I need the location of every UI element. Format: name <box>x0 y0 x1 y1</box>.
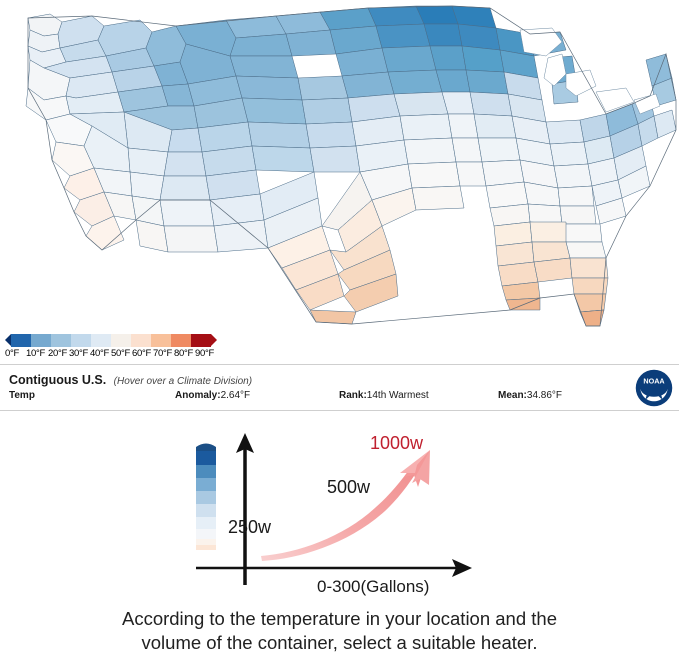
colorbar-tick: 60°F <box>132 348 151 359</box>
colorbar-segment <box>131 334 151 347</box>
stat-mean-label: Mean: <box>498 390 527 401</box>
colorbar-tick: 0°F <box>5 348 19 359</box>
caption-line-1: According to the temperature in your loc… <box>0 607 679 631</box>
colorbar-tick: 20°F <box>48 348 67 359</box>
chart-axes <box>196 433 472 585</box>
us-climate-division-map[interactable] <box>0 0 679 330</box>
heater-selection-diagram: 250w 500w 1000w 0-300(Gallons) <box>0 425 679 600</box>
colorbar-high-cap-icon <box>211 334 217 346</box>
annotation-1000w: 1000w <box>370 433 424 453</box>
colorbar-tick: 40°F <box>90 348 109 359</box>
colorbar-tick: 30°F <box>69 348 88 359</box>
map-info-bar: Contiguous U.S. (Hover over a Climate Di… <box>0 364 679 411</box>
colorbar-strip <box>11 334 211 347</box>
noaa-logo-text: NOAA <box>643 376 665 385</box>
info-title-row: Contiguous U.S. (Hover over a Climate Di… <box>9 371 252 389</box>
stat-mean-value: 34.86°F <box>527 390 562 401</box>
stat-anomaly: Anomaly:2.64°F <box>175 390 250 401</box>
colorbar-tick: 70°F <box>153 348 172 359</box>
stat-temp: Temp <box>9 390 35 401</box>
x-axis-label: 0-300(Gallons) <box>317 577 429 596</box>
colorbar-segment <box>191 334 211 347</box>
stat-rank-value: 14th Warmest <box>367 390 429 401</box>
heater-wattage-chart: 250w 500w 1000w 0-300(Gallons) <box>0 425 679 600</box>
region-title: Contiguous U.S. <box>9 373 106 387</box>
hover-hint: (Hover over a Climate Division) <box>114 376 252 387</box>
stat-rank-label: Rank: <box>339 390 367 401</box>
colorbar-tick: 90°F <box>195 348 214 359</box>
map-panel[interactable] <box>0 0 679 330</box>
stat-anomaly-value: 2.64°F <box>221 390 251 401</box>
colorbar-tick-labels: 0°F 10°F 20°F 30°F 40°F 50°F 60°F 70°F 8… <box>5 348 217 361</box>
colorbar-segment <box>31 334 51 347</box>
colorbar-segment <box>91 334 111 347</box>
annotation-250w: 250w <box>228 517 272 537</box>
colorbar-tick: 80°F <box>174 348 193 359</box>
stat-temp-label: Temp <box>9 390 35 401</box>
caption-line-2: volume of the container, select a suitab… <box>0 631 679 655</box>
growth-arrow-icon <box>261 450 430 561</box>
stat-mean: Mean:34.86°F <box>498 390 562 401</box>
info-stats-row: Temp Anomaly:2.64°F Rank:14th Warmest Me… <box>9 390 629 404</box>
colorbar-segment <box>171 334 191 347</box>
colorbar-segment <box>11 334 31 347</box>
colorbar-tick: 10°F <box>26 348 45 359</box>
colorbar-segment <box>51 334 71 347</box>
stat-anomaly-label: Anomaly: <box>175 390 221 401</box>
colorbar-segment <box>111 334 131 347</box>
annotation-500w: 500w <box>327 477 371 497</box>
colorbar-segment <box>71 334 91 347</box>
temperature-colorbar: 0°F 10°F 20°F 30°F 40°F 50°F 60°F 70°F 8… <box>5 334 225 361</box>
stat-rank: Rank:14th Warmest <box>339 390 429 401</box>
colorbar-segment <box>151 334 171 347</box>
thermometer-legend-icon <box>196 444 216 551</box>
colorbar-tick: 50°F <box>111 348 130 359</box>
noaa-logo-icon[interactable]: NOAA <box>635 369 673 407</box>
instruction-caption: According to the temperature in your loc… <box>0 607 679 655</box>
